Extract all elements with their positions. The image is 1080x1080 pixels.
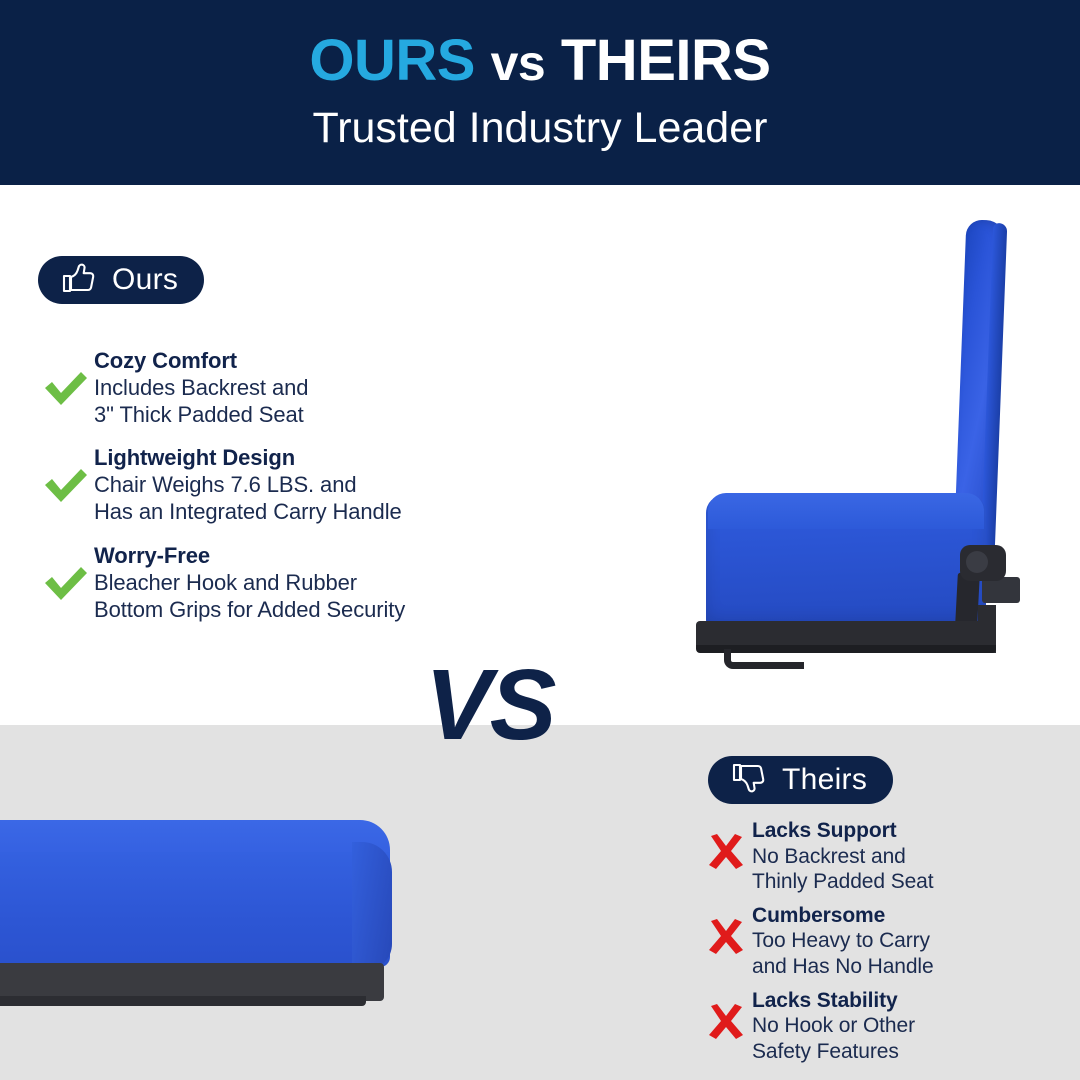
- feature-desc-line: Bottom Grips for Added Security: [94, 597, 538, 624]
- page-title: OURS vs THEIRS: [309, 32, 770, 90]
- feature-desc-line: No Hook or Other: [752, 1013, 1080, 1039]
- feature-desc-line: No Backrest and: [752, 844, 1080, 870]
- chair-seat-top-face: [708, 493, 984, 529]
- theirs-badge: Theirs: [708, 756, 893, 804]
- feature-desc-line: Too Heavy to Carry: [752, 928, 1080, 954]
- title-theirs: THEIRS: [561, 28, 771, 93]
- feature-desc-line: Thinly Padded Seat: [752, 869, 1080, 895]
- title-vs: vs: [491, 35, 546, 91]
- cushion-right-edge: [352, 842, 392, 970]
- header-banner: OURS vs THEIRS Trusted Industry Leader: [0, 0, 1080, 185]
- list-item: Lacks Support No Backrest and Thinly Pad…: [700, 818, 1080, 895]
- list-item: Cumbersome Too Heavy to Carry and Has No…: [700, 903, 1080, 980]
- feature-title: Cumbersome: [752, 903, 1080, 929]
- list-item: Lacks Stability No Hook or Other Safety …: [700, 988, 1080, 1065]
- red-x-icon: [700, 988, 752, 1042]
- theirs-feature-list: Lacks Support No Backrest and Thinly Pad…: [700, 818, 1080, 1072]
- ours-badge: Ours: [38, 256, 204, 304]
- green-check-icon: [38, 348, 94, 408]
- feature-title: Lacks Support: [752, 818, 1080, 844]
- thumbs-up-icon: [60, 261, 96, 300]
- red-x-icon: [700, 818, 752, 872]
- feature-desc-line: Chair Weighs 7.6 LBS. and: [94, 472, 538, 499]
- bleacher-hook: [724, 649, 804, 669]
- feature-title: Worry-Free: [94, 543, 538, 570]
- feature-title: Cozy Comfort: [94, 348, 538, 375]
- list-item: Lightweight Design Chair Weighs 7.6 LBS.…: [38, 445, 538, 525]
- feature-desc-line: 3" Thick Padded Seat: [94, 402, 538, 429]
- list-item: Cozy Comfort Includes Backrest and 3" Th…: [38, 348, 538, 428]
- feature-desc-line: Safety Features: [752, 1039, 1080, 1065]
- ours-feature-list: Cozy Comfort Includes Backrest and 3" Th…: [38, 348, 538, 640]
- thumbs-down-icon: [730, 761, 766, 800]
- green-check-icon: [38, 445, 94, 505]
- chair-hinge-knob-dial: [966, 551, 988, 573]
- feature-desc-line: Bleacher Hook and Rubber: [94, 570, 538, 597]
- list-item: Worry-Free Bleacher Hook and Rubber Bott…: [38, 543, 538, 623]
- vs-divider-label: VS: [425, 655, 554, 755]
- theirs-badge-label: Theirs: [782, 763, 867, 797]
- feature-desc-line: Includes Backrest and: [94, 375, 538, 402]
- feature-title: Lacks Stability: [752, 988, 1080, 1014]
- red-x-icon: [700, 903, 752, 957]
- feature-desc-line: and Has No Handle: [752, 954, 1080, 980]
- page-subtitle: Trusted Industry Leader: [313, 104, 768, 153]
- ours-product-image: [660, 205, 1080, 695]
- feature-desc-line: Has an Integrated Carry Handle: [94, 499, 538, 526]
- feature-title: Lightweight Design: [94, 445, 538, 472]
- title-ours: OURS: [309, 28, 475, 93]
- green-check-icon: [38, 543, 94, 603]
- ours-badge-label: Ours: [112, 263, 178, 297]
- theirs-product-image: [0, 820, 400, 1040]
- cushion-base-lip: [0, 996, 366, 1006]
- cushion-body: [0, 852, 390, 967]
